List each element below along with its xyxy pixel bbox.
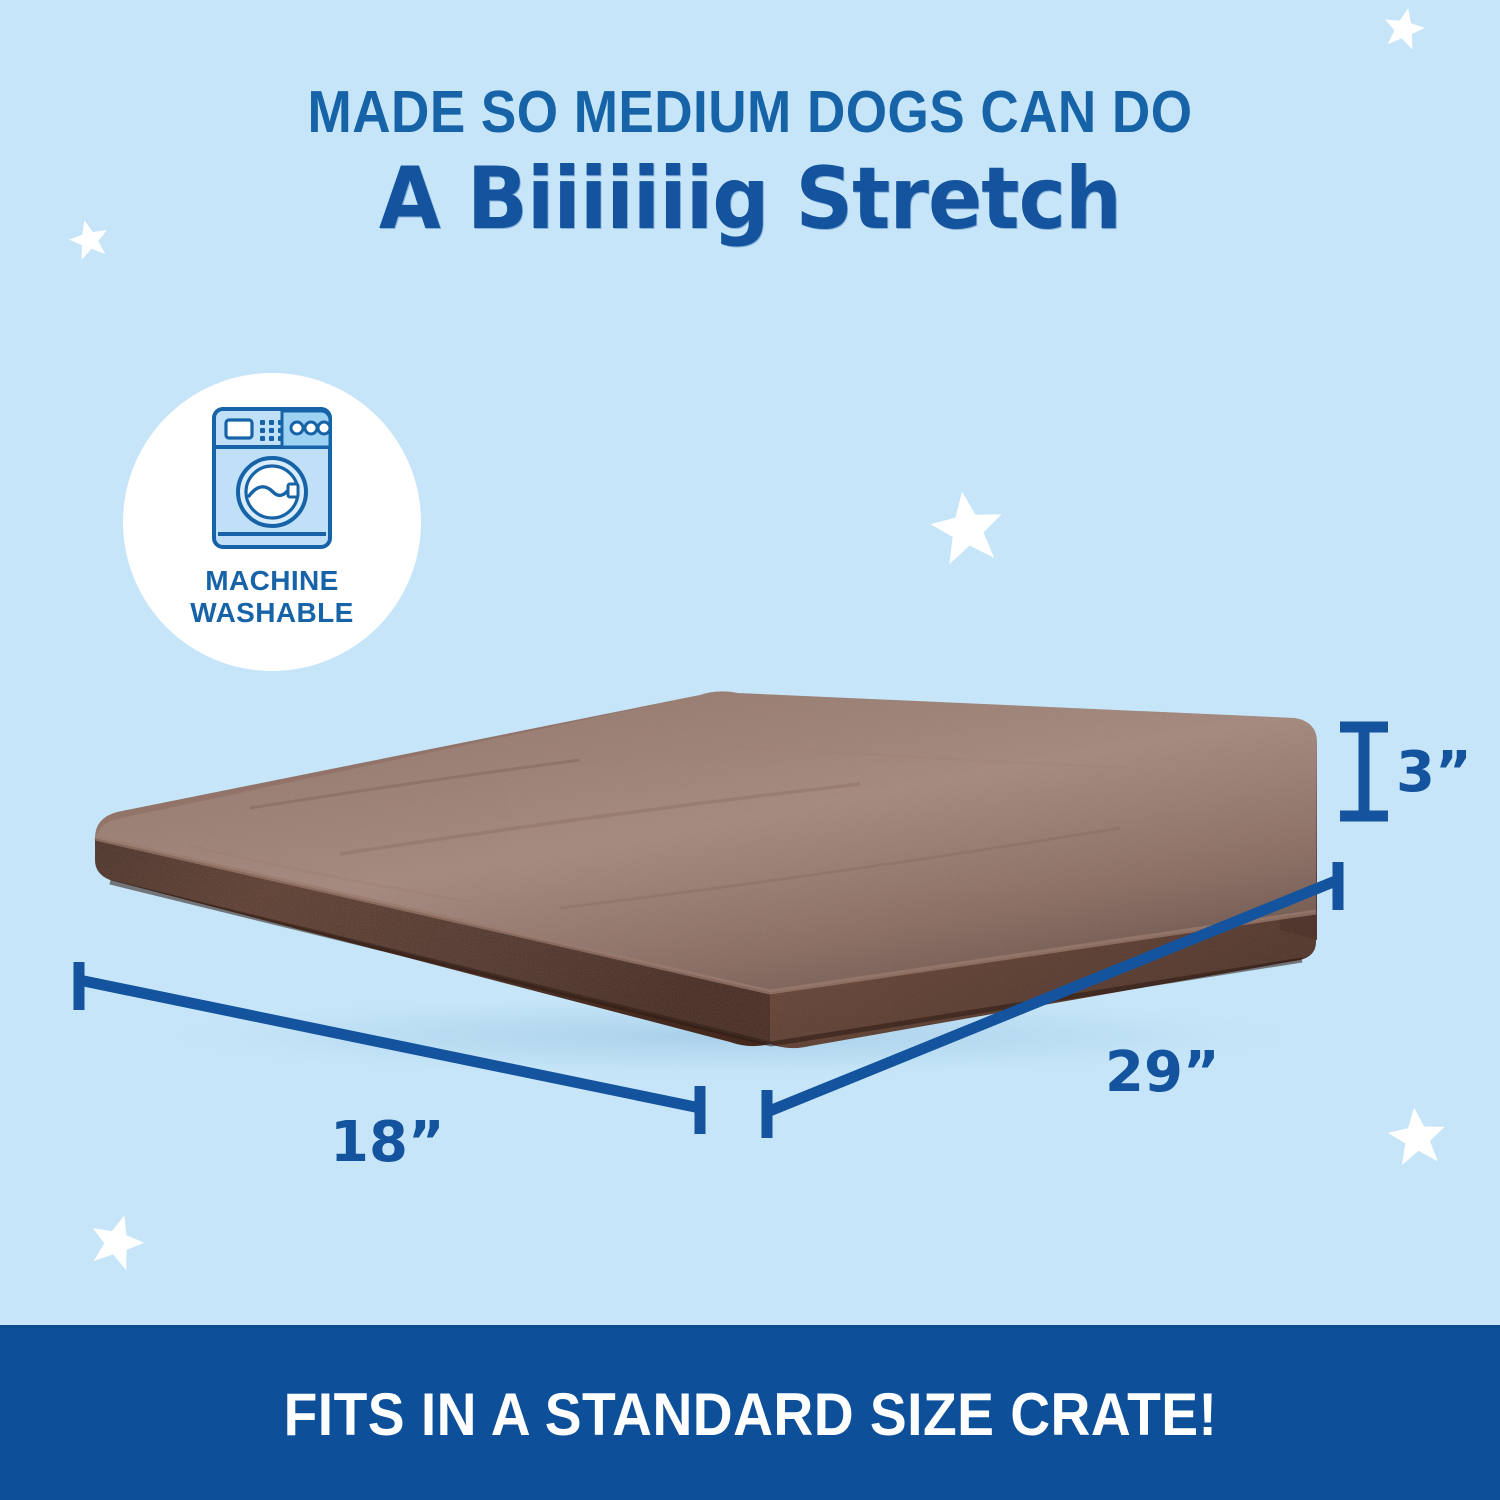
- banner-text: FITS IN A STANDARD SIZE CRATE!: [283, 1380, 1217, 1449]
- main-heading: A Biiiiiiig Stretch: [53, 154, 1448, 244]
- product-image: [40, 640, 1380, 1090]
- dimension-label-height: 3”: [1396, 740, 1472, 805]
- headline-block: MADE SO MEDIUM DOGS CAN DO A Biiiiiiig S…: [0, 82, 1500, 244]
- bottom-banner: FITS IN A STANDARD SIZE CRATE!: [0, 1325, 1500, 1500]
- washing-machine-icon: [208, 403, 336, 553]
- eyebrow-heading: MADE SO MEDIUM DOGS CAN DO: [75, 82, 1425, 142]
- machine-washable-badge: MACHINE WASHABLE: [123, 373, 421, 671]
- star-center-right-icon: [928, 488, 1006, 566]
- badge-caption: MACHINE WASHABLE: [190, 565, 353, 628]
- dimension-label-width: 18”: [330, 1110, 445, 1175]
- star-bottom-left-icon: [88, 1212, 146, 1270]
- star-bottom-right-icon: [1386, 1105, 1448, 1167]
- star-top-right-icon: [1382, 6, 1426, 50]
- infographic-canvas: MADE SO MEDIUM DOGS CAN DO A Biiiiiiig S…: [0, 0, 1500, 1500]
